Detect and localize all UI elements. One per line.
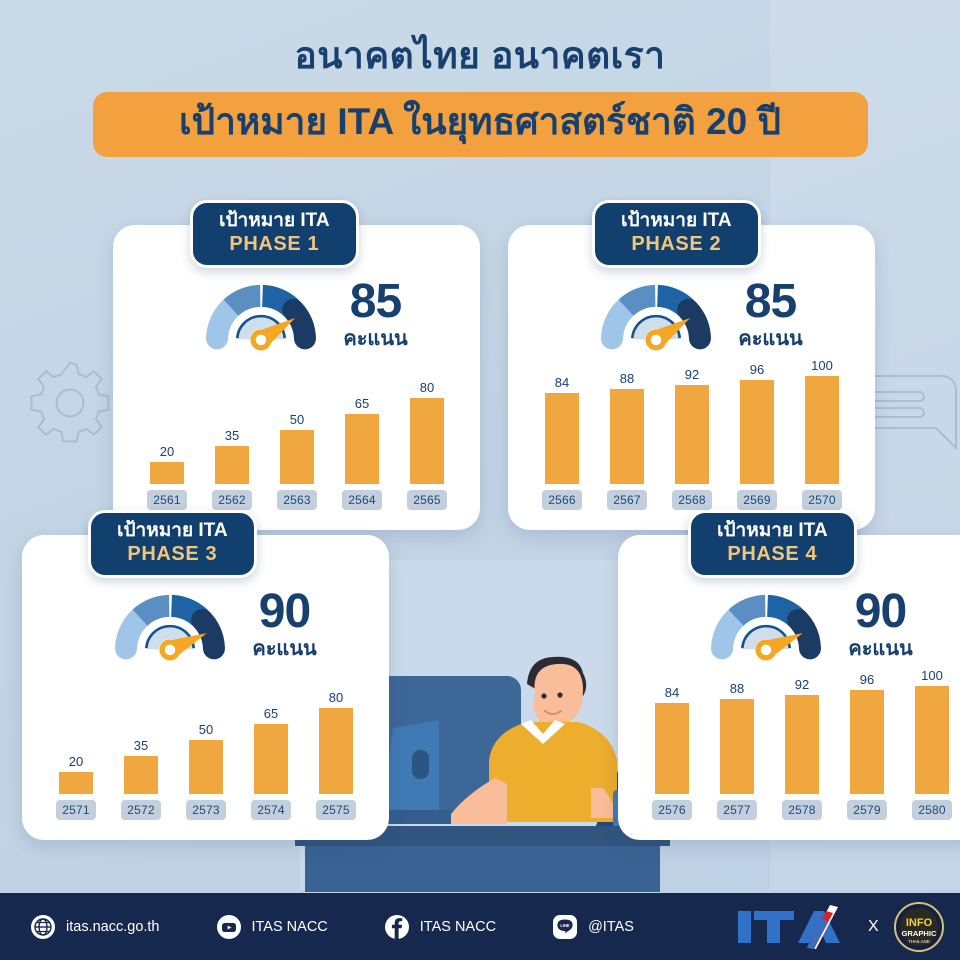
bar-value-label: 100 — [811, 358, 833, 373]
bar — [740, 380, 774, 484]
infographic-thailand-logo: INFO GRAPHIC THAILAND — [893, 901, 945, 953]
badge-phase-2[interactable]: เป้าหมาย ITA PHASE 2 — [592, 200, 761, 268]
bar — [720, 699, 754, 794]
gauge-score-row: 90 คะแนน — [618, 583, 960, 671]
partner-line-3: THAILAND — [908, 939, 930, 944]
footer-label-youtube: ITAS NACC — [252, 919, 328, 935]
bar-year-label: 2567 — [607, 490, 647, 510]
ita-logo — [734, 901, 854, 953]
bar-column: 50 2563 — [271, 412, 323, 510]
badge-phase-3[interactable]: เป้าหมาย ITA PHASE 3 — [88, 510, 257, 578]
score-unit: คะแนน — [738, 327, 802, 351]
collab-x-label: X — [868, 918, 879, 936]
footer-item-facebook[interactable]: ITAS NACC — [384, 914, 496, 940]
footer-item-youtube[interactable]: ITAS NACC — [216, 914, 328, 940]
score-display: 85 คะแนน — [343, 279, 407, 355]
facebook-icon — [384, 914, 410, 940]
bar-year-label: 2573 — [186, 800, 226, 820]
bar-value-label: 92 — [685, 367, 699, 382]
gauge-score-row: 85 คะแนน — [508, 273, 875, 361]
bar-value-label: 20 — [69, 754, 83, 769]
bar — [610, 389, 644, 484]
footer-item-website[interactable]: itas.nacc.go.th — [30, 914, 160, 940]
line-icon: LINE — [552, 914, 578, 940]
partner-line-1: INFO — [905, 917, 932, 929]
title-highlight-band: เป้าหมาย ITA ในยุทธศาสตร์ชาติ 20 ปี — [93, 92, 868, 157]
gauge-score-row: 90 คะแนน — [22, 583, 389, 671]
bar-value-label: 35 — [134, 738, 148, 753]
badge-phase-label: PHASE 3 — [117, 542, 228, 566]
bar-value-label: 80 — [420, 380, 434, 395]
footer-bar: itas.nacc.go.th ITAS NACC ITAS NACC LINE — [0, 893, 960, 960]
badge-title-th: เป้าหมาย ITA — [219, 210, 330, 232]
bar-column: 35 2562 — [206, 428, 258, 510]
score-display: 85 คะแนน — [738, 279, 802, 355]
badge-phase-4[interactable]: เป้าหมาย ITA PHASE 4 — [688, 510, 857, 578]
score-unit: คะแนน — [343, 327, 407, 351]
bar-value-label: 96 — [860, 672, 874, 687]
score-number: 85 — [343, 279, 407, 325]
youtube-icon — [216, 914, 242, 940]
title-line-2: เป้าหมาย ITA ในยุทธศาสตร์ชาติ 20 ปี — [133, 101, 828, 144]
bar-value-label: 65 — [264, 706, 278, 721]
bar — [280, 430, 314, 484]
bar-column: 88 2577 — [711, 681, 763, 820]
bar-chart: 84 2576 88 2577 92 2578 96 2579 100 2580 — [646, 675, 958, 820]
card-body-phase-3: 90 คะแนน 20 2571 35 2572 50 2573 65 2574… — [22, 535, 389, 840]
bar-chart: 20 2561 35 2562 50 2563 65 2564 80 2565 — [141, 365, 453, 510]
card-body-phase-1: 85 คะแนน 20 2561 35 2562 50 2563 65 2564… — [113, 225, 480, 530]
bar — [345, 414, 379, 484]
bar-year-label: 2580 — [912, 800, 952, 820]
svg-text:LINE: LINE — [560, 922, 570, 927]
bar — [215, 446, 249, 484]
bar-column: 20 2561 — [141, 444, 193, 510]
gauge-chart — [94, 583, 246, 671]
bar-year-label: 2563 — [277, 490, 317, 510]
gauge-score-row: 85 คะแนน — [113, 273, 480, 361]
badge-title-th: เป้าหมาย ITA — [621, 210, 732, 232]
bar — [850, 690, 884, 794]
bar-column: 80 2565 — [401, 380, 453, 510]
card-body-phase-2: 85 คะแนน 84 2566 88 2567 92 2568 96 2569… — [508, 225, 875, 530]
bar-year-label: 2578 — [782, 800, 822, 820]
bar-column: 50 2573 — [180, 722, 232, 820]
bar-column: 100 2580 — [906, 668, 958, 820]
bar-column: 92 2568 — [666, 367, 718, 510]
bar-column: 92 2578 — [776, 677, 828, 820]
bar-value-label: 84 — [555, 375, 569, 390]
partner-line-2: GRAPHIC — [901, 929, 937, 938]
bar — [675, 385, 709, 484]
score-display: 90 คะแนน — [848, 589, 912, 665]
gauge-chart — [580, 273, 732, 361]
bar-year-label: 2574 — [251, 800, 291, 820]
bar-year-label: 2562 — [212, 490, 252, 510]
bar-column: 84 2576 — [646, 685, 698, 820]
bar-value-label: 50 — [290, 412, 304, 427]
globe-icon — [30, 914, 56, 940]
bar-column: 35 2572 — [115, 738, 167, 820]
bar-value-label: 88 — [620, 371, 634, 386]
badge-phase-label: PHASE 2 — [621, 232, 732, 256]
bar-column: 20 2571 — [50, 754, 102, 820]
score-number: 90 — [252, 589, 316, 635]
bar — [254, 724, 288, 794]
bar-column: 96 2569 — [731, 362, 783, 510]
bar-year-label: 2577 — [717, 800, 757, 820]
score-number: 85 — [738, 279, 802, 325]
bar — [150, 462, 184, 484]
bar-value-label: 65 — [355, 396, 369, 411]
bar-year-label: 2564 — [342, 490, 382, 510]
bar-year-label: 2579 — [847, 800, 887, 820]
bar-year-label: 2571 — [56, 800, 96, 820]
gear-icon — [22, 355, 118, 451]
bar — [319, 708, 353, 794]
bar-column: 65 2564 — [336, 396, 388, 510]
bar-value-label: 100 — [921, 668, 943, 683]
footer-label-website: itas.nacc.go.th — [66, 919, 160, 935]
page-title: อนาคตไทย อนาคตเรา เป้าหมาย ITA ในยุทธศาส… — [0, 34, 960, 157]
card-body-phase-4: 90 คะแนน 84 2576 88 2577 92 2578 96 2579… — [618, 535, 960, 840]
bar-year-label: 2569 — [737, 490, 777, 510]
score-unit: คะแนน — [848, 637, 912, 661]
bar — [410, 398, 444, 484]
bar-value-label: 35 — [225, 428, 239, 443]
bar-column: 100 2570 — [796, 358, 848, 510]
gauge-chart — [690, 583, 842, 671]
bar-value-label: 96 — [750, 362, 764, 377]
bar-column: 80 2575 — [310, 690, 362, 820]
bar-year-label: 2561 — [147, 490, 187, 510]
gauge-chart — [185, 273, 337, 361]
bar-column: 84 2566 — [536, 375, 588, 510]
score-number: 90 — [848, 589, 912, 635]
bar — [545, 393, 579, 484]
footer-label-facebook: ITAS NACC — [420, 919, 496, 935]
bar-year-label: 2568 — [672, 490, 712, 510]
bar-year-label: 2572 — [121, 800, 161, 820]
bar-value-label: 20 — [160, 444, 174, 459]
score-display: 90 คะแนน — [252, 589, 316, 665]
score-unit: คะแนน — [252, 637, 316, 661]
bar-year-label: 2576 — [652, 800, 692, 820]
bar-year-label: 2566 — [542, 490, 582, 510]
partner-logos: X INFO GRAPHIC THAILAND — [734, 901, 945, 953]
bar — [124, 756, 158, 794]
bar-chart: 20 2571 35 2572 50 2573 65 2574 80 2575 — [50, 675, 362, 820]
bar-year-label: 2570 — [802, 490, 842, 510]
badge-phase-label: PHASE 1 — [219, 232, 330, 256]
bar-chart: 84 2566 88 2567 92 2568 96 2569 100 2570 — [536, 365, 848, 510]
infographic-canvas: อนาคตไทย อนาคตเรา เป้าหมาย ITA ในยุทธศาส… — [0, 0, 960, 960]
badge-title-th: เป้าหมาย ITA — [117, 520, 228, 542]
footer-item-line[interactable]: LINE @ITAS — [552, 914, 634, 940]
bar — [655, 703, 689, 794]
footer-label-line: @ITAS — [588, 919, 634, 935]
bar — [59, 772, 93, 794]
bar-column: 88 2567 — [601, 371, 653, 510]
bar-column: 65 2574 — [245, 706, 297, 820]
bar-year-label: 2565 — [407, 490, 447, 510]
badge-phase-label: PHASE 4 — [717, 542, 828, 566]
bar-value-label: 92 — [795, 677, 809, 692]
badge-phase-1[interactable]: เป้าหมาย ITA PHASE 1 — [190, 200, 359, 268]
bar-value-label: 80 — [329, 690, 343, 705]
bar-year-label: 2575 — [316, 800, 356, 820]
bar-value-label: 50 — [199, 722, 213, 737]
badge-title-th: เป้าหมาย ITA — [717, 520, 828, 542]
bar — [805, 376, 839, 484]
title-line-1: อนาคตไทย อนาคตเรา — [0, 34, 960, 78]
bar-value-label: 84 — [665, 685, 679, 700]
bar — [915, 686, 949, 794]
bar-column: 96 2579 — [841, 672, 893, 820]
bar — [189, 740, 223, 794]
bar-value-label: 88 — [730, 681, 744, 696]
bar — [785, 695, 819, 794]
